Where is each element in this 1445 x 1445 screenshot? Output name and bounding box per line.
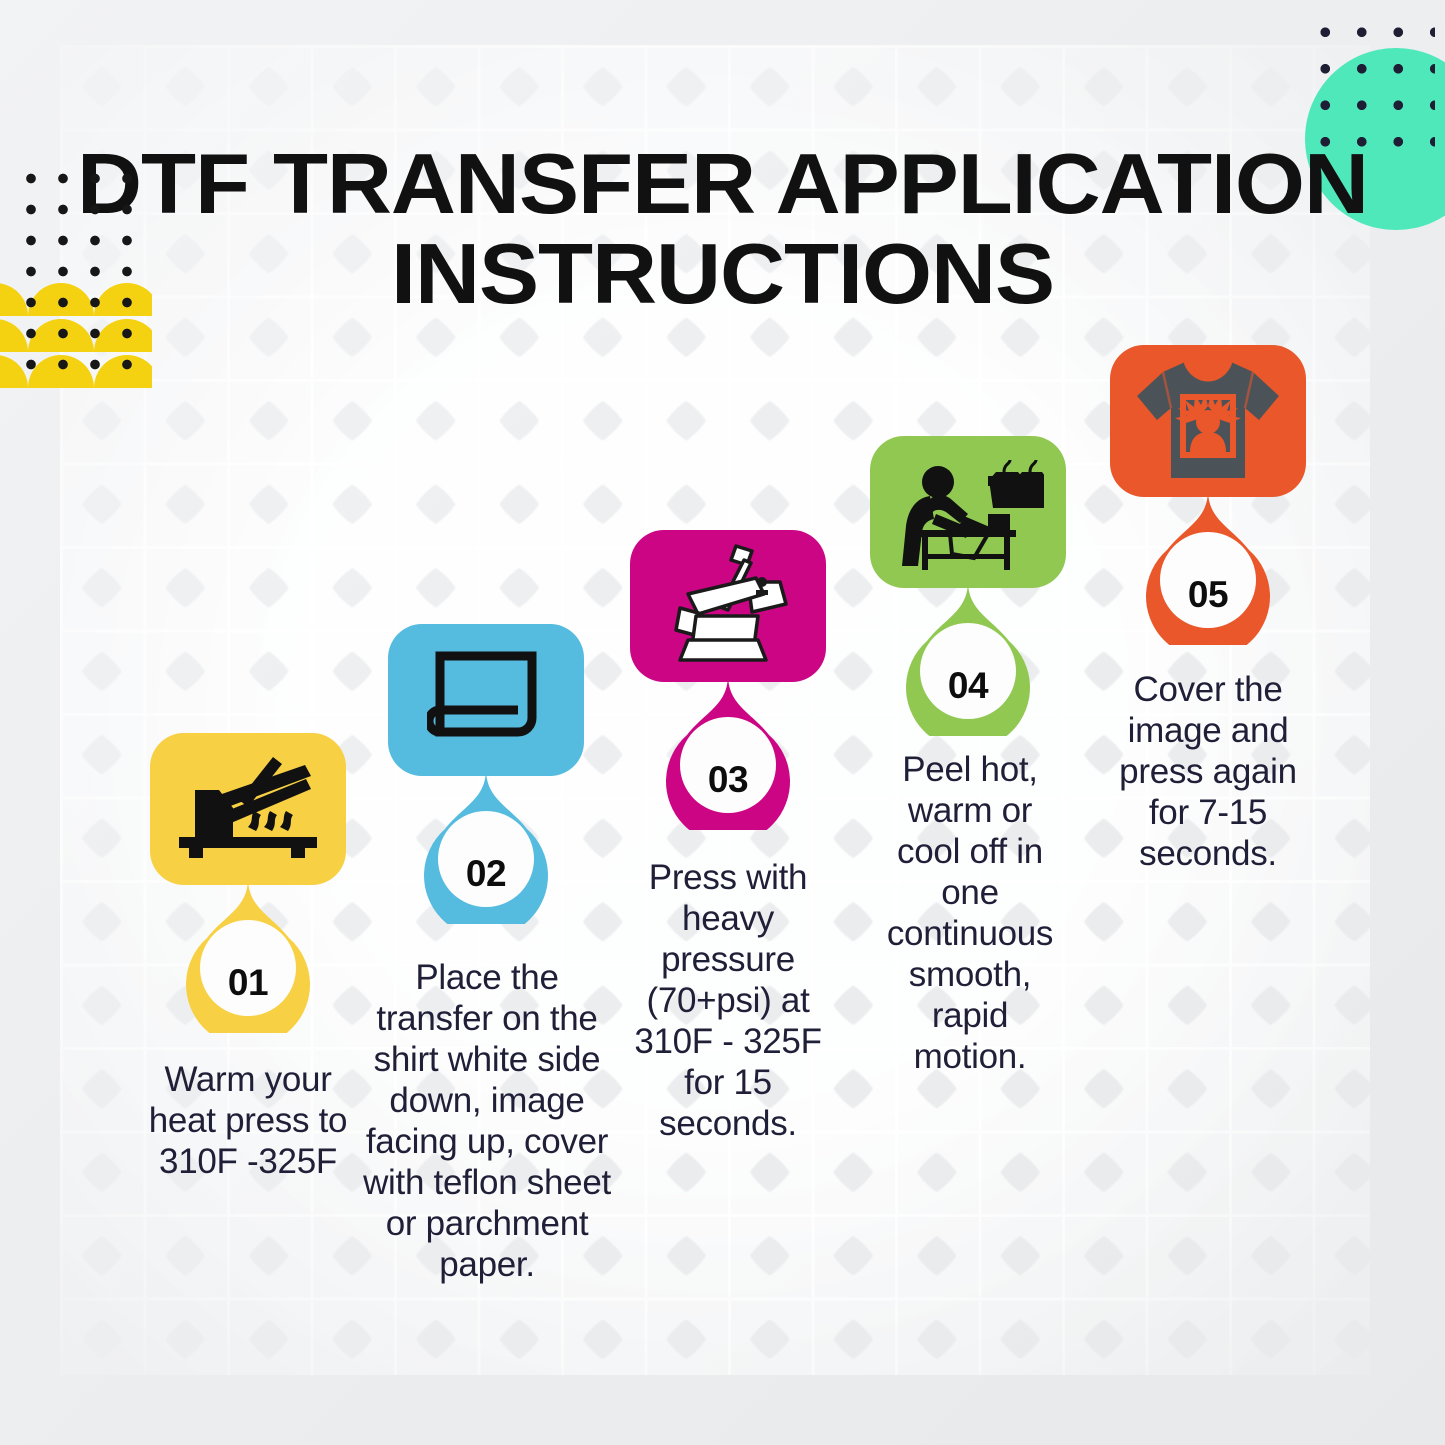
step-03-text: Press with heavy pressure (70+psi) at 31… [612,858,844,1145]
step-02-number: 02 [388,839,584,909]
step-05-text: Cover the image and press again for 7-15… [1118,670,1298,875]
step-04-text: Peel hot, warm or cool off in one contin… [880,750,1060,1078]
step-01-text: Warm your heat press to 310F -325F [128,1060,368,1183]
step-04-icon-tile [870,436,1066,588]
step-02-icon-tile [388,624,584,776]
step-05-number: 05 [1110,560,1306,630]
heat-press-machine-icon [658,542,798,670]
peel-transfer-person-icon [892,454,1044,570]
step-01-icon-tile [150,733,346,885]
heat-press-open-icon [175,757,321,861]
printed-tshirt-icon [1133,354,1283,488]
step-03-number: 03 [630,745,826,815]
steps-container: 01 Warm your heat press to 310F -325F [0,0,1445,1445]
step-04-number: 04 [870,651,1066,721]
dot-grid-decoration-top-left [12,160,147,370]
step-03-icon-tile [630,530,826,682]
transfer-sheet-icon [427,648,545,752]
step-05-icon-tile [1110,345,1306,497]
step-01-number: 01 [150,948,346,1018]
step-02-text: Place the transfer on the shirt white si… [362,958,612,1286]
infographic-poster: DTF TRANSFER APPLICATION INSTRUCTIONS [0,0,1445,1445]
